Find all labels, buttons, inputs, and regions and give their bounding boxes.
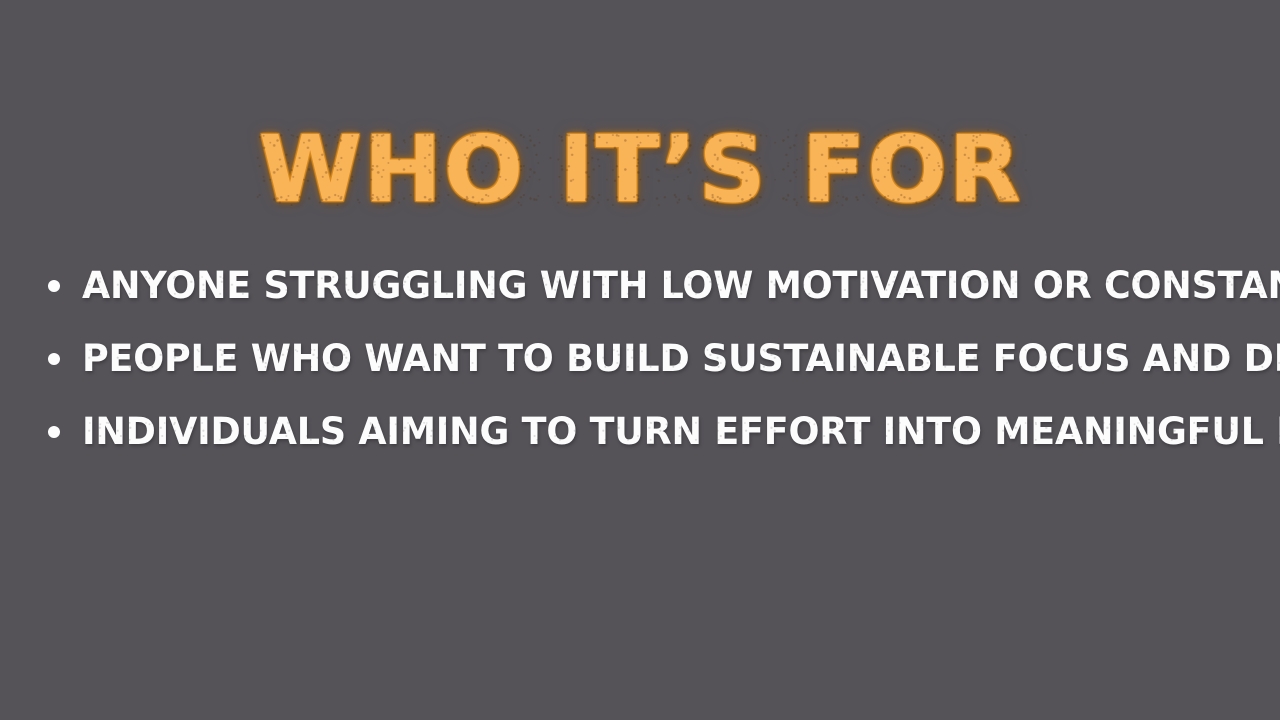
slide-title-container: WHO IT’S FOR <box>0 62 1280 277</box>
bullet-list: ANYONE STRUGGLING WITH LOW MOTIVATION OR… <box>44 266 1244 485</box>
list-item: PEOPLE WHO WANT TO BUILD SUSTAINABLE FOC… <box>44 339 1244 412</box>
list-item-label: INDIVIDUALS AIMING TO TURN EFFORT INTO M… <box>82 412 1280 452</box>
list-item-label: ANYONE STRUGGLING WITH LOW MOTIVATION OR… <box>82 266 1280 306</box>
bullet-dot-icon <box>48 353 60 365</box>
list-item: INDIVIDUALS AIMING TO TURN EFFORT INTO M… <box>44 412 1244 485</box>
page-title: WHO IT’S FOR <box>258 124 1022 216</box>
list-item: ANYONE STRUGGLING WITH LOW MOTIVATION OR… <box>44 266 1244 339</box>
list-item-label: PEOPLE WHO WANT TO BUILD SUSTAINABLE FOC… <box>82 339 1280 379</box>
bullet-dot-icon <box>48 426 60 438</box>
bullet-dot-icon <box>48 280 60 292</box>
presentation-slide: WHO IT’S FOR ANYONE STRUGGLING WITH LOW … <box>0 0 1280 720</box>
